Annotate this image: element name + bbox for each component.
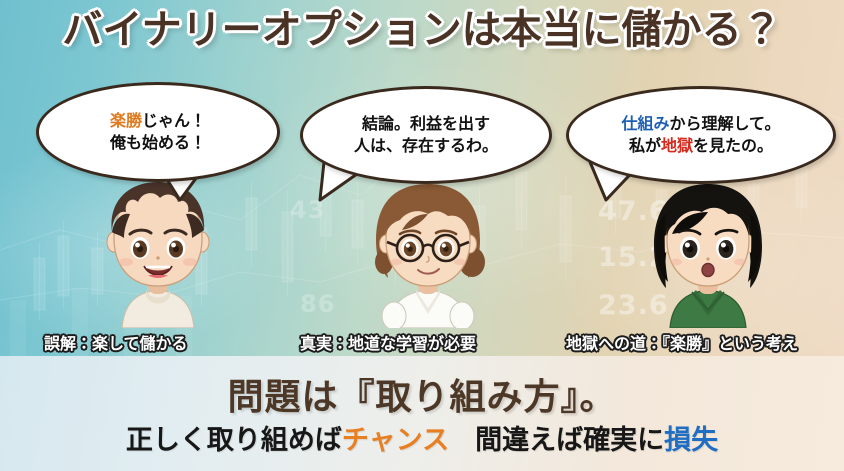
bubble1-line1-highlight: 楽勝 (110, 111, 142, 130)
subline-part-1: 正しく取り組めば (126, 425, 342, 456)
bubble1-line1-rest: じゃん！ (142, 111, 206, 130)
infographic-canvas: 47.6 15.2 23.6 43 86 バイナリーオプションは本当に儲かる？ (0, 0, 844, 471)
character-worried-woman (628, 176, 788, 328)
bottom-summary-panel: 問題は『取り組み方』。 正しく取り組めばチャンス間違えば確実に損失 (0, 356, 844, 471)
speech-bubble-optimist: 楽勝じゃん！ 俺も始める！ (36, 82, 280, 182)
speech-bubble-warner: 仕組みから理解して。 私が地獄を見たの。 (566, 86, 836, 184)
bubble2-line2: 人は、存在するわ。 (354, 136, 498, 155)
bottom-heading: 問題は『取り組み方』。 (0, 368, 844, 420)
bubble3-line1-rest: から理解して。 (669, 114, 780, 133)
subline-part-2: 間違えば確実に (475, 425, 664, 456)
bubble3-line2-highlight: 地獄 (661, 136, 693, 155)
caption-warner: 地獄への道：『楽勝』という考え (566, 330, 798, 354)
caption-realist: 真実：地道な学習が必要 (300, 330, 476, 354)
bubble2-line1: 結論。利益を出す (362, 114, 490, 133)
page-title: バイナリーオプションは本当に儲かる？ (0, 10, 844, 50)
subline-chance-highlight: チャンス (342, 425, 449, 456)
subline-loss-highlight: 損失 (664, 425, 718, 456)
bubble3-line2-pre: 私が (629, 136, 661, 155)
speech-bubble-warner-text: 仕組みから理解して。 私が地獄を見たの。 (607, 113, 794, 156)
bubble1-line2: 俺も始める！ (110, 133, 206, 152)
bubble3-line1-highlight: 仕組み (621, 114, 669, 133)
bubble3-line2-post: を見たの。 (693, 136, 773, 155)
caption-optimist: 誤解：楽して儲かる (44, 330, 188, 354)
speech-bubble-realist: 結論。利益を出す 人は、存在するわ。 (300, 86, 552, 184)
speech-bubble-optimist-text: 楽勝じゃん！ 俺も始める！ (96, 110, 220, 153)
speech-bubble-realist-text: 結論。利益を出す 人は、存在するわ。 (340, 113, 512, 156)
caption-row: 誤解：楽して儲かる 真実：地道な学習が必要 地獄への道：『楽勝』という考え (0, 328, 844, 356)
bottom-subline: 正しく取り組めばチャンス間違えば確実に損失 (0, 418, 844, 457)
